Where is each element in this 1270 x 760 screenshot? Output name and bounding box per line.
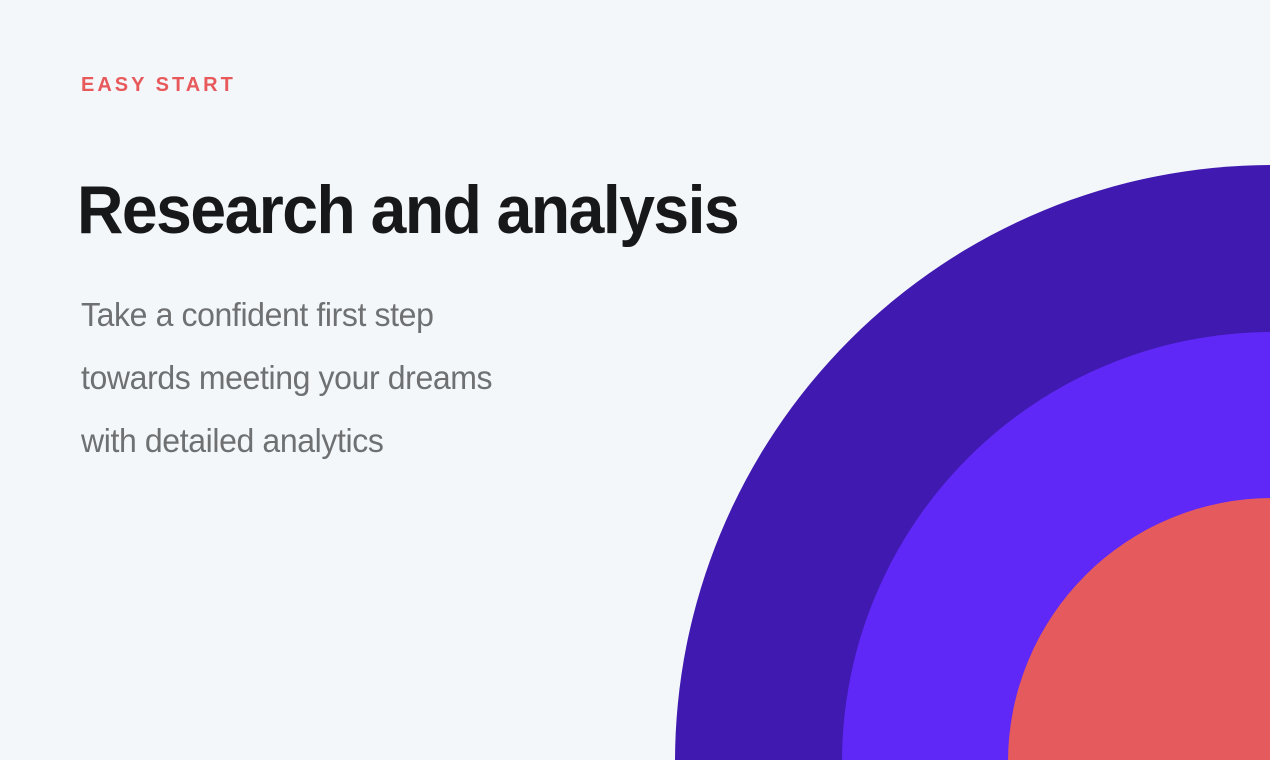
inner-circle <box>1008 498 1270 760</box>
hero-subtitle: Take a confident first step towards meet… <box>81 283 505 472</box>
hero-subtitle-line: with detailed analytics <box>81 409 492 472</box>
middle-ring <box>842 332 1270 760</box>
hero-banner: EASY START Research and analysis Take a … <box>0 0 1270 760</box>
hero-subtitle-line: Take a confident first step <box>81 283 492 346</box>
eyebrow-label: EASY START <box>81 70 236 100</box>
hero-subtitle-line: towards meeting your dreams <box>81 346 492 409</box>
hero-text-column: EASY START Research and analysis Take a … <box>81 0 721 760</box>
page-title: Research and analysis <box>77 168 738 252</box>
outer-ring <box>675 165 1270 760</box>
